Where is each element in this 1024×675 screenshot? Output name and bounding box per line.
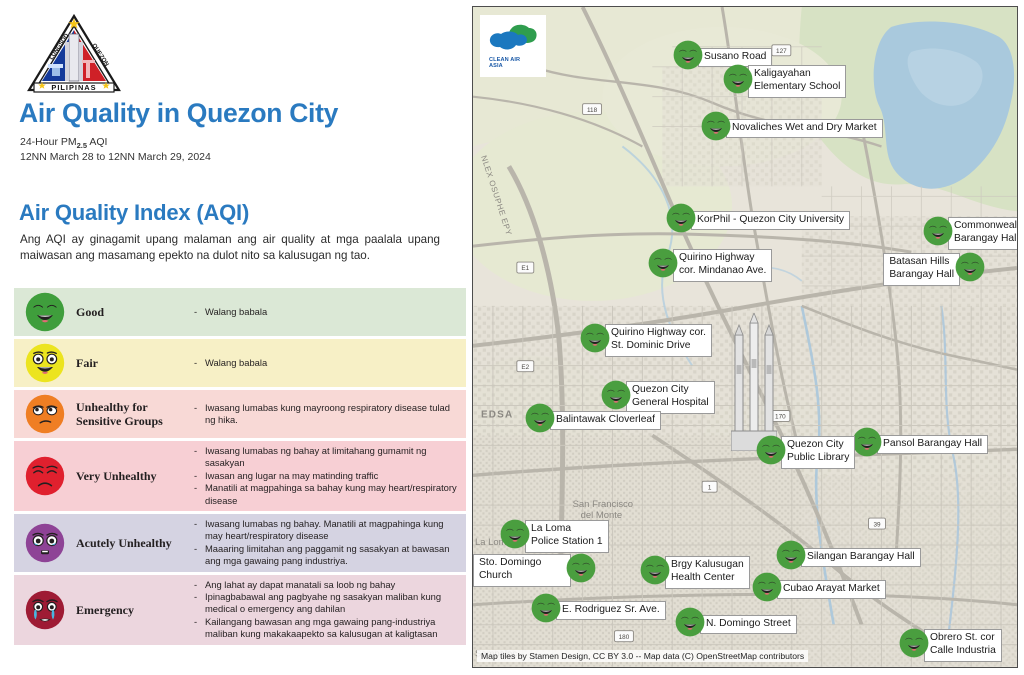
map-marker-brgy-kalusugan-health-center[interactable]: Brgy Kalusugan Health Center bbox=[640, 555, 750, 590]
map-marker-label: Pansol Barangay Hall bbox=[877, 435, 988, 455]
map-marker-label: Quirino Highway cor. St. Dominic Drive bbox=[605, 324, 712, 356]
legend-advice-text: Ang lahat ay dapat manatali sa loob ng b… bbox=[205, 579, 395, 591]
bullet-dash: - bbox=[194, 306, 205, 318]
quezon-memorial-monument-icon bbox=[731, 313, 777, 451]
map-marker-n-domingo-street[interactable]: N. Domingo Street bbox=[675, 607, 797, 642]
legend-advice-item: -Iwasang lumabas ng bahay. Manatili at m… bbox=[194, 518, 458, 543]
legend-advice-list: -Walang babala bbox=[194, 357, 466, 369]
metric-suffix: AQI bbox=[87, 136, 107, 148]
bullet-dash: - bbox=[194, 616, 205, 641]
good-aqi-face-icon[interactable] bbox=[531, 593, 561, 628]
good-aqi-face-icon[interactable] bbox=[752, 572, 782, 607]
good-aqi-face-icon[interactable] bbox=[955, 252, 985, 287]
page-title: Air Quality in Quezon City bbox=[19, 98, 338, 129]
legend-advice-text: Iwasan ang lugar na may matinding traffi… bbox=[205, 470, 378, 482]
map-marker-label: Quezon City Public Library bbox=[781, 436, 855, 468]
info-panel: PILIPINAS LUNGSOD QUEZON Air Quality in … bbox=[0, 0, 470, 675]
svg-text:118: 118 bbox=[587, 107, 598, 114]
legend-category-name: Very Unhealthy bbox=[76, 469, 194, 483]
good-aqi-face-icon[interactable] bbox=[675, 607, 705, 642]
svg-text:PILIPINAS: PILIPINAS bbox=[51, 83, 96, 92]
svg-text:1: 1 bbox=[708, 484, 712, 491]
map-marker-label: Kaligayahan Elementary School bbox=[748, 65, 846, 97]
sad-closed-eyes-icon bbox=[14, 456, 76, 496]
svg-text:180: 180 bbox=[619, 634, 630, 641]
map-marker-label: Novaliches Wet and Dry Market bbox=[726, 119, 883, 139]
date-range: 12NN March 28 to 12NN March 29, 2024 bbox=[20, 151, 211, 163]
map-marker-quirino-highway-cor-st-dominic-drive[interactable]: Quirino Highway cor. St. Dominic Drive bbox=[580, 323, 712, 358]
legend-advice-item: -Ipinagbabawal ang pagbyahe ng sasakyan … bbox=[194, 591, 458, 616]
bullet-dash: - bbox=[194, 579, 205, 591]
good-aqi-face-icon[interactable] bbox=[756, 435, 786, 470]
legend-advice-item: -Walang babala bbox=[194, 357, 458, 369]
good-aqi-face-icon[interactable] bbox=[701, 111, 731, 146]
good-aqi-face-icon[interactable] bbox=[566, 553, 596, 588]
legend-advice-item: -Manatili at magpahinga sa bahay kung ma… bbox=[194, 482, 458, 507]
map-marker-label: La Loma Police Station 1 bbox=[525, 520, 609, 552]
metric-prefix: 24-Hour PM bbox=[20, 136, 77, 148]
legend-category-name: Acutely Unhealthy bbox=[76, 536, 194, 550]
map-marker-label: Balintawak Cloverleaf bbox=[550, 411, 661, 431]
bullet-dash: - bbox=[194, 357, 205, 369]
svg-text:EDSA: EDSA bbox=[481, 409, 513, 420]
svg-text:127: 127 bbox=[776, 48, 787, 55]
legend-advice-item: -Kailangang bawasan ang mga gawaing pang… bbox=[194, 616, 458, 641]
bullet-dash: - bbox=[194, 591, 205, 616]
good-aqi-face-icon[interactable] bbox=[580, 323, 610, 358]
map-marker-kaligayahan-elementary-school[interactable]: Kaligayahan Elementary School bbox=[723, 64, 846, 99]
aqi-legend: Good-Walang babala Fair-Walang babala Un… bbox=[14, 288, 466, 648]
quezon-city-seal-icon: PILIPINAS LUNGSOD QUEZON bbox=[26, 12, 122, 94]
legend-advice-item: -Iwasan ang lugar na may matinding traff… bbox=[194, 470, 458, 482]
map-marker-obrero-st-cor-calle-industria[interactable]: Obrero St. cor Calle Industria bbox=[899, 628, 1002, 663]
map-marker-novaliches-wet-and-dry-market[interactable]: Novaliches Wet and Dry Market bbox=[701, 111, 883, 146]
legend-advice-text: Manatili at magpahinga sa bahay kung may… bbox=[205, 482, 458, 507]
legend-advice-item: -Ang lahat ay dapat manatali sa loob ng … bbox=[194, 579, 458, 591]
legend-advice-text: Ipinagbabawal ang pagbyahe ng sasakyan m… bbox=[205, 591, 458, 616]
metric-subscript: 2.5 bbox=[77, 141, 87, 150]
map-marker-label: N. Domingo Street bbox=[700, 615, 797, 635]
crying-icon bbox=[14, 590, 76, 630]
legend-advice-text: Maaaring limitahan ang paggamit ng sasak… bbox=[205, 543, 458, 568]
map-marker-label: Batasan Hills Barangay Hall bbox=[883, 253, 960, 285]
clean-air-asia-cloud-icon bbox=[487, 23, 539, 57]
map-marker-label: Brgy Kalusugan Health Center bbox=[665, 556, 750, 588]
good-aqi-face-icon[interactable] bbox=[776, 540, 806, 575]
map-marker-balintawak-cloverleaf[interactable]: Balintawak Cloverleaf bbox=[525, 403, 661, 438]
good-aqi-face-icon[interactable] bbox=[640, 555, 670, 590]
bullet-dash: - bbox=[194, 518, 205, 543]
good-aqi-face-icon[interactable] bbox=[923, 216, 953, 251]
metric-subtitle: 24-Hour PM2.5 AQI bbox=[20, 136, 107, 150]
legend-advice-list: -Iwasang lumabas ng bahay at limitahang … bbox=[194, 445, 466, 507]
bullet-dash: - bbox=[194, 445, 205, 470]
svg-text:E2: E2 bbox=[521, 364, 529, 371]
legend-advice-text: Iwasang lumabas ng bahay. Manatili at ma… bbox=[205, 518, 458, 543]
good-aqi-face-icon[interactable] bbox=[899, 628, 929, 663]
air-quality-map[interactable]: EDSA San Francisco del Monte La Loma Sam… bbox=[472, 6, 1018, 668]
legend-advice-list: -Iwasang lumabas kung mayroong respirato… bbox=[194, 402, 466, 427]
map-marker-quirino-highway-cor-mindanao-ave[interactable]: Quirino Highway cor. Mindanao Ave. bbox=[648, 248, 772, 283]
map-marker-label: Obrero St. cor Calle Industria bbox=[924, 629, 1002, 661]
worried-eyes-icon bbox=[14, 394, 76, 434]
legend-advice-text: Iwasang lumabas ng bahay at limitahang g… bbox=[205, 445, 458, 470]
legend-advice-text: Walang babala bbox=[205, 306, 267, 318]
happy-closed-eyes-icon bbox=[14, 292, 76, 332]
map-marker-silangan-barangay-hall[interactable]: Silangan Barangay Hall bbox=[776, 540, 921, 575]
legend-advice-text: Iwasang lumabas kung mayroong respirator… bbox=[205, 402, 458, 427]
aqi-description: Ang AQI ay ginagamit upang malaman ang a… bbox=[20, 232, 440, 264]
legend-category-name: Emergency bbox=[76, 603, 194, 617]
svg-text:39: 39 bbox=[873, 521, 881, 528]
legend-advice-item: -Walang babala bbox=[194, 306, 458, 318]
map-marker-label: Silangan Barangay Hall bbox=[801, 548, 921, 568]
svg-text:E1: E1 bbox=[521, 265, 529, 272]
legend-advice-list: -Walang babala bbox=[194, 306, 466, 318]
map-marker-label: Cubao Arayat Market bbox=[777, 580, 886, 600]
legend-row-acutely-unhealthy: Acutely Unhealthy-Iwasang lumabas ng bah… bbox=[14, 514, 466, 572]
legend-advice-text: Kailangang bawasan ang mga gawaing pang-… bbox=[205, 616, 458, 641]
legend-row-fair: Fair-Walang babala bbox=[14, 339, 466, 387]
legend-category-name: Unhealthy for Sensitive Groups bbox=[76, 400, 194, 428]
svg-text:San Francisco: San Francisco bbox=[573, 499, 633, 510]
good-aqi-face-icon[interactable] bbox=[500, 519, 530, 554]
legend-category-name: Good bbox=[76, 305, 194, 319]
legend-row-good: Good-Walang babala bbox=[14, 288, 466, 336]
legend-row-emergency: Emergency-Ang lahat ay dapat manatali sa… bbox=[14, 575, 466, 645]
map-marker-label: Sto. Domingo Church bbox=[473, 554, 571, 586]
map-marker-sto-domingo-church[interactable]: Sto. Domingo Church bbox=[473, 553, 596, 588]
map-marker-la-loma-police-station-1[interactable]: La Loma Police Station 1 bbox=[500, 519, 609, 554]
map-attribution: Map tiles by Stamen Design, CC BY 3.0 --… bbox=[477, 650, 808, 662]
legend-advice-list: -Ang lahat ay dapat manatali sa loob ng … bbox=[194, 579, 466, 641]
bullet-dash: - bbox=[194, 543, 205, 568]
map-marker-label: KorPhil - Quezon City University bbox=[691, 211, 850, 231]
bullet-dash: - bbox=[194, 470, 205, 482]
good-aqi-face-icon[interactable] bbox=[666, 203, 696, 238]
good-aqi-face-icon[interactable] bbox=[673, 40, 703, 75]
map-marker-label: Commonwealth Barangay Hall bbox=[948, 217, 1018, 249]
map-marker-quezon-city-public-library[interactable]: Quezon City Public Library bbox=[756, 435, 855, 470]
clean-air-asia-text: CLEAN AIRASIA bbox=[480, 57, 546, 70]
legend-advice-text: Walang babala bbox=[205, 357, 267, 369]
legend-advice-list: -Iwasang lumabas ng bahay. Manatili at m… bbox=[194, 518, 466, 568]
grin-open-eyes-icon bbox=[14, 343, 76, 383]
good-aqi-face-icon[interactable] bbox=[648, 248, 678, 283]
legend-advice-item: -Iwasang lumabas ng bahay at limitahang … bbox=[194, 445, 458, 470]
map-marker-commonwealth-barangay-hall[interactable]: Commonwealth Barangay Hall bbox=[923, 216, 1018, 251]
shocked-teary-icon bbox=[14, 523, 76, 563]
legend-row-very-unhealthy: Very Unhealthy-Iwasang lumabas ng bahay … bbox=[14, 441, 466, 511]
clean-air-asia-logo: CLEAN AIRASIA bbox=[480, 15, 546, 77]
map-marker-e-rodriguez-sr-ave[interactable]: E. Rodriguez Sr. Ave. bbox=[531, 593, 666, 628]
legend-row-unhealthy-for-sensitive-groups: Unhealthy for Sensitive Groups-Iwasang l… bbox=[14, 390, 466, 438]
aqi-section-heading: Air Quality Index (AQI) bbox=[19, 200, 249, 226]
bullet-dash: - bbox=[194, 482, 205, 507]
good-aqi-face-icon[interactable] bbox=[723, 64, 753, 99]
map-marker-cubao-arayat-market[interactable]: Cubao Arayat Market bbox=[752, 572, 886, 607]
bullet-dash: - bbox=[194, 402, 205, 427]
map-marker-pansol-barangay-hall[interactable]: Pansol Barangay Hall bbox=[852, 427, 988, 462]
legend-advice-item: -Maaaring limitahan ang paggamit ng sasa… bbox=[194, 543, 458, 568]
good-aqi-face-icon[interactable] bbox=[525, 403, 555, 438]
legend-advice-item: -Iwasang lumabas kung mayroong respirato… bbox=[194, 402, 458, 427]
map-marker-korphil-quezon-city-university[interactable]: KorPhil - Quezon City University bbox=[666, 203, 850, 238]
map-marker-label: E. Rodriguez Sr. Ave. bbox=[556, 601, 666, 621]
map-marker-label: Quirino Highway cor. Mindanao Ave. bbox=[673, 249, 772, 281]
map-marker-batasan-hills-barangay-hall[interactable]: Batasan Hills Barangay Hall bbox=[883, 252, 985, 287]
legend-category-name: Fair bbox=[76, 356, 194, 370]
good-aqi-face-icon[interactable] bbox=[852, 427, 882, 462]
